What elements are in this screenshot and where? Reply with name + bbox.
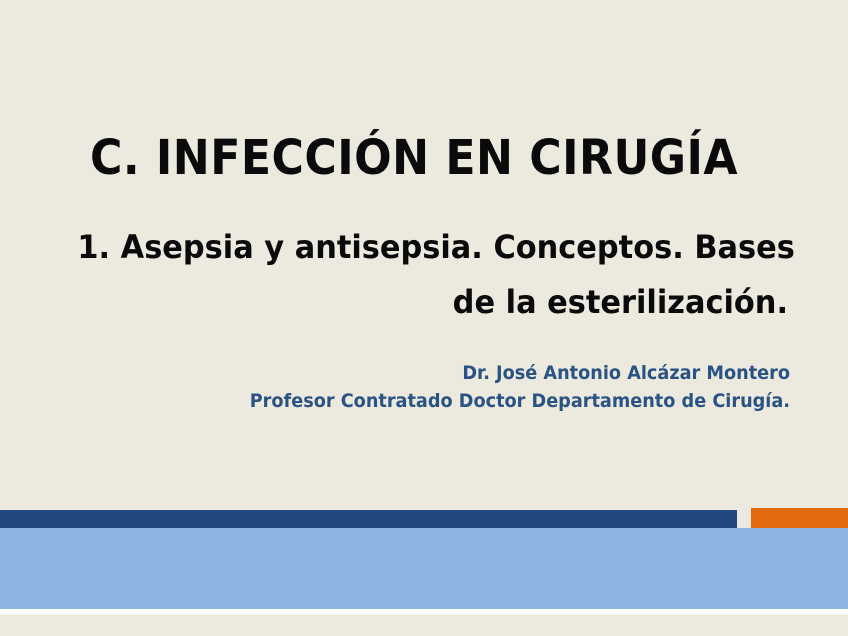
slide-subtitle-line-1: 1. Asepsia y antisepsia. Conceptos. Base…	[77, 220, 788, 275]
footer-orange-bar	[751, 508, 848, 528]
footer-bottom-cream-band	[0, 614, 848, 636]
footer-navy-bar	[0, 510, 737, 528]
slide-subtitle-line-2: de la esterilización.	[77, 275, 788, 330]
author-block: Dr. José Antonio Alcázar Montero Profeso…	[93, 360, 791, 415]
footer-light-blue-band	[0, 528, 848, 609]
slide-title: C. INFECCIÓN EN CIRUGÍA	[70, 132, 758, 186]
slide-text-area: C. INFECCIÓN EN CIRUGÍA 1. Asepsia y ant…	[0, 0, 848, 500]
author-affiliation: Profesor Contratado Doctor Departamento …	[93, 388, 791, 416]
presentation-slide: C. INFECCIÓN EN CIRUGÍA 1. Asepsia y ant…	[0, 0, 848, 636]
author-name: Dr. José Antonio Alcázar Montero	[93, 360, 791, 388]
slide-subtitle: 1. Asepsia y antisepsia. Conceptos. Base…	[77, 220, 788, 330]
